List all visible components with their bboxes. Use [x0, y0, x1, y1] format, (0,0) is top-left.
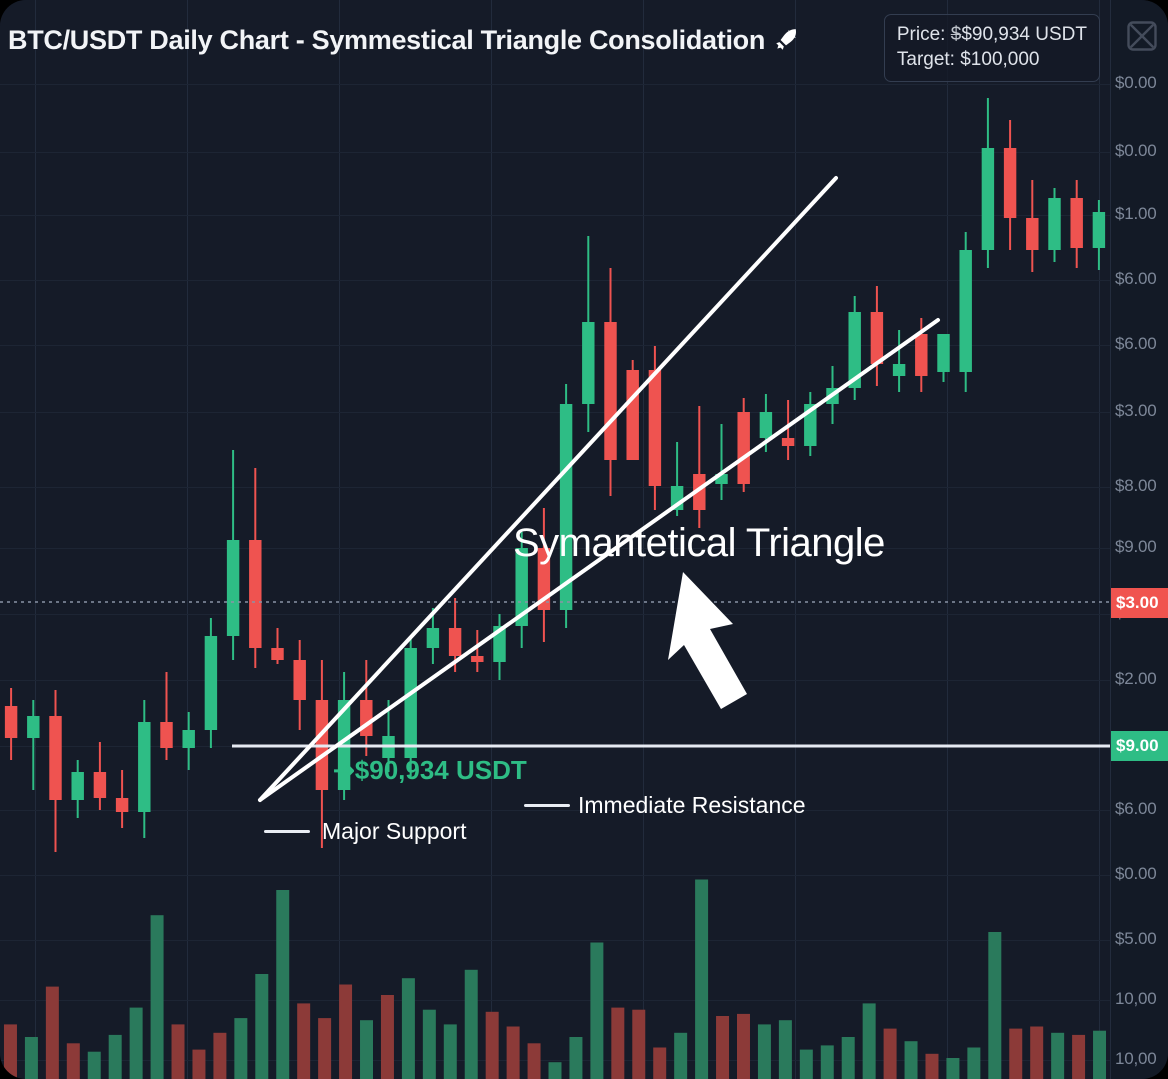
- price-info-line: Price: $$90,934 USDT: [897, 22, 1087, 47]
- chart-screenshot: $0.00$0.00$1.00$6.00$6.00$3.00$8.00$9.00…: [0, 0, 1168, 1079]
- resistance-legend-dash: [524, 804, 570, 807]
- price-info-value: $90,934 USDT: [961, 24, 1087, 45]
- pattern-label: Symantetical Triangle: [513, 521, 885, 566]
- support-legend-dash: [264, 830, 310, 833]
- price-info-box: Price: $$90,934 USDT Target: $100,000: [884, 14, 1100, 82]
- rocket-icon: [773, 27, 799, 53]
- legend-label-major-support: Major Support: [322, 818, 466, 845]
- legend-label-immediate-resistance: Immediate Resistance: [578, 792, 806, 819]
- price-info-label: Price:: [897, 24, 946, 45]
- crossed-box-icon[interactable]: [1124, 18, 1160, 54]
- title-bar: BTC/USDT Daily Chart - Symmestical Trian…: [8, 20, 799, 60]
- up-left-arrow-icon: [668, 572, 747, 709]
- upper-trendline: [260, 178, 836, 800]
- price-strike-glyph: $: [951, 24, 962, 45]
- target-info-line: Target: $100,000: [897, 47, 1087, 72]
- page-title: BTC/USDT Daily Chart - Symmestical Trian…: [8, 25, 765, 56]
- current-price-tag: ⇢$90,934 USDT: [333, 755, 527, 786]
